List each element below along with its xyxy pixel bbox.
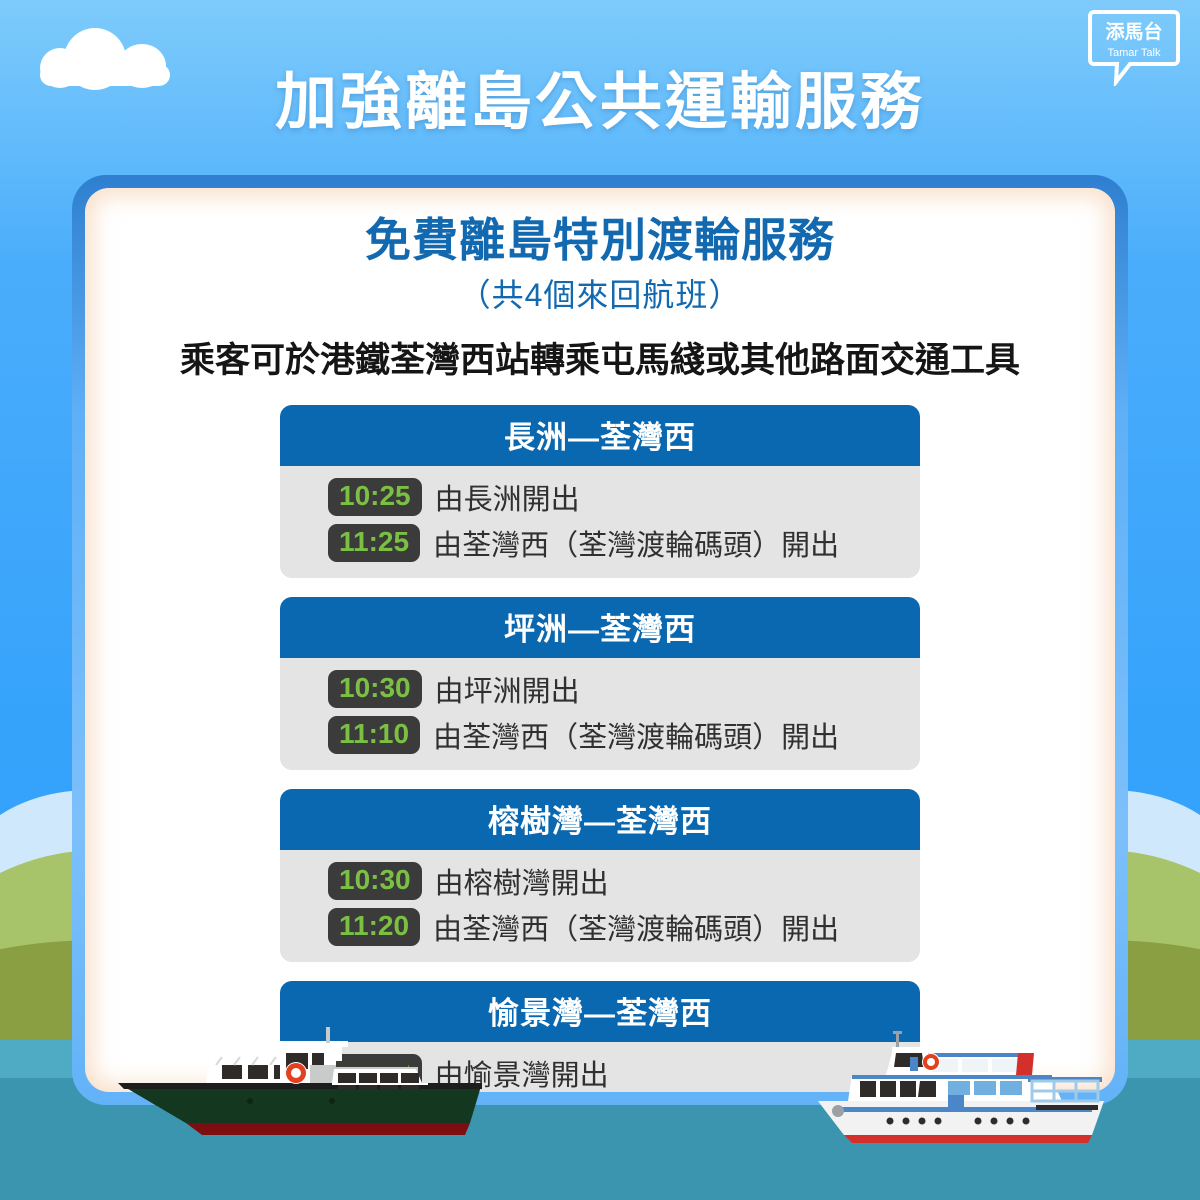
trip-description: 由荃灣西（荃灣渡輪碼頭）開出 bbox=[433, 906, 839, 948]
trip-row: 11:25 由荃灣西（荃灣渡輪碼頭）開出 bbox=[280, 520, 920, 566]
route-header: 榕樹灣—荃灣西 bbox=[280, 789, 920, 850]
departure-time-badge: 11:20 bbox=[328, 908, 420, 946]
trip-description: 由荃灣西（荃灣渡輪碼頭）開出 bbox=[433, 522, 839, 564]
ferry-illustration-right bbox=[800, 1029, 1120, 1164]
logo-primary-text: 添馬台 bbox=[1105, 20, 1162, 43]
route-header: 長洲—荃灣西 bbox=[280, 405, 920, 466]
trip-row: 11:20 由荃灣西（荃灣渡輪碼頭）開出 bbox=[280, 904, 920, 950]
content-panel-inner: 免費離島特別渡輪服務 （共4個來回航班） 乘客可於港鐵荃灣西站轉乘屯馬綫或其他路… bbox=[85, 188, 1115, 1092]
content-panel: 免費離島特別渡輪服務 （共4個來回航班） 乘客可於港鐵荃灣西站轉乘屯馬綫或其他路… bbox=[72, 175, 1128, 1105]
trip-row: 10:25 由長洲開出 bbox=[280, 474, 920, 520]
trip-description: 由長洲開出 bbox=[435, 476, 580, 518]
trip-description: 由荃灣西（荃灣渡輪碼頭）開出 bbox=[433, 714, 839, 756]
trip-row: 10:30 由榕樹灣開出 bbox=[280, 858, 920, 904]
route-header: 坪洲—荃灣西 bbox=[280, 597, 920, 658]
subtitle: 免費離島特別渡輪服務 bbox=[125, 216, 1075, 266]
ferry-illustration-left bbox=[110, 1027, 490, 1152]
logo-secondary-text: Tamar Talk bbox=[1108, 47, 1161, 59]
departure-time-badge: 11:10 bbox=[328, 716, 420, 754]
trip-description: 由榕樹灣開出 bbox=[435, 860, 609, 902]
departure-time-badge: 10:25 bbox=[328, 478, 422, 516]
departure-time-badge: 10:30 bbox=[328, 862, 422, 900]
poster-root: 添馬台 Tamar Talk 加強離島公共運輸服務 免費離島特別渡輪服務 （共4… bbox=[0, 0, 1200, 1200]
page-title: 加強離島公共運輸服務 bbox=[0, 72, 1200, 134]
subtitle-note: （共4個來回航班） bbox=[125, 270, 1075, 316]
route-card[interactable]: 坪洲—荃灣西 10:30 由坪洲開出 11:10 由荃灣西（荃灣渡輪碼頭）開出 bbox=[280, 597, 920, 770]
trip-row: 11:10 由荃灣西（荃灣渡輪碼頭）開出 bbox=[280, 712, 920, 758]
route-body: 10:30 由榕樹灣開出 11:20 由荃灣西（荃灣渡輪碼頭）開出 bbox=[280, 850, 920, 962]
trip-description: 由坪洲開出 bbox=[435, 668, 580, 710]
route-card[interactable]: 長洲—荃灣西 10:25 由長洲開出 11:25 由荃灣西（荃灣渡輪碼頭）開出 bbox=[280, 405, 920, 578]
route-body: 10:30 由坪洲開出 11:10 由荃灣西（荃灣渡輪碼頭）開出 bbox=[280, 658, 920, 770]
route-list: 長洲—荃灣西 10:25 由長洲開出 11:25 由荃灣西（荃灣渡輪碼頭）開出 bbox=[280, 405, 920, 1092]
trip-row: 10:30 由坪洲開出 bbox=[280, 666, 920, 712]
cloud-icon bbox=[40, 28, 200, 74]
departure-time-badge: 11:25 bbox=[328, 524, 420, 562]
departure-time-badge: 10:30 bbox=[328, 670, 422, 708]
route-card[interactable]: 榕樹灣—荃灣西 10:30 由榕樹灣開出 11:20 由荃灣西（荃灣渡輪碼頭）開… bbox=[280, 789, 920, 962]
route-body: 10:25 由長洲開出 11:25 由荃灣西（荃灣渡輪碼頭）開出 bbox=[280, 466, 920, 578]
transfer-note: 乘客可於港鐵荃灣西站轉乘屯馬綫或其他路面交通工具 bbox=[125, 332, 1075, 383]
